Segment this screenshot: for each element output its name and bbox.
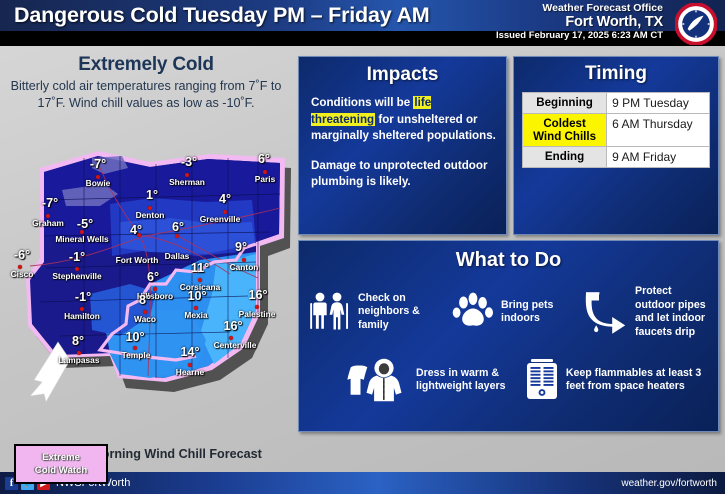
city-temperature: 4° — [219, 192, 231, 206]
city-temperature: 16° — [223, 319, 242, 333]
city-name: Sherman — [169, 177, 205, 187]
legend-line-2: Cold Watch — [35, 464, 87, 477]
timing-row: Coldest Wind Chills6 AM Thursday — [523, 114, 710, 147]
page-title: Dangerous Cold Tuesday PM – Friday AM — [14, 3, 430, 28]
timing-row: Ending9 AM Friday — [523, 147, 710, 168]
office-label: Weather Forecast Office — [473, 2, 663, 14]
extremely-cold-subtitle: Bitterly cold air temperatures ranging f… — [6, 78, 286, 111]
what-to-do-item-protect-pipes: Protect outdoor pipes and let indoor fau… — [582, 285, 712, 339]
impacts-title: Impacts — [299, 64, 506, 86]
city-name: Centerville — [214, 340, 257, 350]
timing-row: Beginning9 PM Tuesday — [523, 93, 710, 114]
left-panel: Extremely Cold Bitterly cold air tempera… — [0, 46, 292, 472]
city-temperature: 10° — [187, 289, 206, 303]
city-name: Dallas — [165, 251, 190, 261]
footer-bar: f 🐦 ▶ NWSFortWorth weather.gov/fortworth — [0, 472, 725, 494]
timing-card: Timing Beginning9 PM TuesdayColdest Wind… — [513, 56, 719, 235]
city-temperature: -3° — [181, 155, 197, 169]
city-name: Fort Worth — [116, 255, 159, 265]
city-name: Palestine — [239, 309, 276, 319]
website-url[interactable]: weather.gov/fortworth — [621, 478, 717, 489]
city-name: Waco — [134, 314, 156, 324]
city-temperature: -1° — [69, 250, 85, 264]
city-temperature: -7° — [90, 157, 106, 171]
city-temperature: 11° — [191, 261, 209, 275]
what-to-do-grid: Check on neighbors & family — [307, 285, 712, 403]
what-to-do-card: What to Do — [298, 240, 719, 432]
impacts-body: Conditions will be life threatening for … — [311, 95, 496, 191]
city-name: Temple — [122, 350, 151, 360]
city-name: Mexia — [184, 310, 207, 320]
city-name: Cisco — [11, 269, 34, 279]
timing-row-label: Beginning — [523, 93, 607, 114]
city-temperature: 8° — [139, 293, 151, 307]
city-name: Canton — [230, 262, 259, 272]
timing-row-label: Coldest Wind Chills — [523, 114, 607, 147]
city-temperature: -1° — [75, 290, 91, 304]
impacts-paragraph-1: Conditions will be life threatening for … — [311, 95, 496, 145]
city-temperature: 6° — [147, 270, 159, 284]
city-temperature: -6° — [14, 248, 30, 262]
what-to-do-text-2: Bring pets indoors — [501, 299, 582, 326]
legend-line-1: Extreme — [42, 451, 80, 464]
city-name: Hamilton — [64, 311, 100, 321]
what-to-do-text-5: Keep flammables at least 3 feet from spa… — [566, 367, 712, 394]
what-to-do-item-dress-warm: Dress in warm & lightweight layers — [347, 357, 525, 403]
city-temperature: 4° — [130, 223, 142, 237]
city-name: Denton — [136, 210, 165, 220]
city-temperature: 14° — [180, 345, 199, 359]
city-temperature: 6° — [258, 152, 270, 166]
city-name: Mineral Wells — [55, 234, 108, 244]
issued-time: Issued February 17, 2025 6:23 AM CT — [473, 30, 663, 42]
city-name: Bowie — [86, 178, 111, 188]
what-to-do-text-1: Check on neighbors & family — [358, 292, 452, 333]
office-info: Weather Forecast Office Fort Worth, TX I… — [473, 2, 663, 42]
extreme-cold-watch-legend: Extreme Cold Watch — [14, 444, 108, 484]
timing-table: Beginning9 PM TuesdayColdest Wind Chills… — [522, 92, 710, 168]
extremely-cold-title: Extremely Cold — [0, 54, 292, 76]
city-temperature: 6° — [172, 220, 184, 234]
timing-row-label: Ending — [523, 147, 607, 168]
impacts-p1-pre: Conditions will be — [311, 96, 413, 109]
city-temperature: -5° — [77, 217, 93, 231]
wind-chill-map[interactable]: -7°Bowie-7°Graham-3°Sherman6°Paris1°Dent… — [0, 144, 292, 442]
what-to-do-item-space-heater: Keep flammables at least 3 feet from spa… — [525, 357, 712, 403]
winter-clothing-icon — [347, 357, 409, 403]
city-name: Hearne — [176, 367, 204, 377]
nws-logo-icon — [675, 3, 717, 45]
impacts-paragraph-2: Damage to unprotected outdoor plumbing i… — [311, 158, 496, 191]
what-to-do-row-1: Check on neighbors & family — [307, 285, 712, 339]
city-name: Paris — [255, 174, 276, 184]
what-to-do-item-bring-pets: Bring pets indoors — [452, 285, 582, 339]
space-heater-icon — [525, 357, 559, 403]
city-temperature: 10° — [125, 330, 144, 344]
header-bar: Dangerous Cold Tuesday PM – Friday AM We… — [0, 0, 725, 46]
elderly-couple-icon — [307, 290, 351, 334]
city-temperature: 16° — [248, 288, 267, 302]
city-name: Graham — [32, 218, 64, 228]
what-to-do-title: What to Do — [299, 249, 718, 272]
city-temperature: -7° — [42, 196, 58, 210]
office-city: Fort Worth, TX — [473, 14, 663, 30]
what-to-do-text-4: Dress in warm & lightweight layers — [416, 367, 525, 394]
timing-row-value: 6 AM Thursday — [607, 114, 710, 147]
city-temperature: 9° — [235, 240, 247, 254]
what-to-do-row-2: Dress in warm & lightweight layers — [307, 357, 712, 403]
what-to-do-text-3: Protect outdoor pipes and let indoor fau… — [635, 285, 712, 339]
city-temperature: 8° — [72, 334, 84, 348]
city-dot — [175, 234, 179, 238]
city-name: Lampasas — [59, 355, 100, 365]
infographic-root: Dangerous Cold Tuesday PM – Friday AM We… — [0, 0, 725, 494]
what-to-do-item-check-neighbors: Check on neighbors & family — [307, 285, 452, 339]
city-name: Stephenville — [52, 271, 101, 281]
pipe-faucet-drip-icon — [582, 289, 628, 335]
impacts-card: Impacts Conditions will be life threaten… — [298, 56, 507, 235]
timing-title: Timing — [514, 63, 718, 85]
city-name: Greenville — [200, 214, 241, 224]
timing-row-value: 9 PM Tuesday — [607, 93, 710, 114]
city-temperature: 1° — [146, 188, 158, 202]
paw-print-icon — [452, 291, 494, 333]
timing-row-value: 9 AM Friday — [607, 147, 710, 168]
